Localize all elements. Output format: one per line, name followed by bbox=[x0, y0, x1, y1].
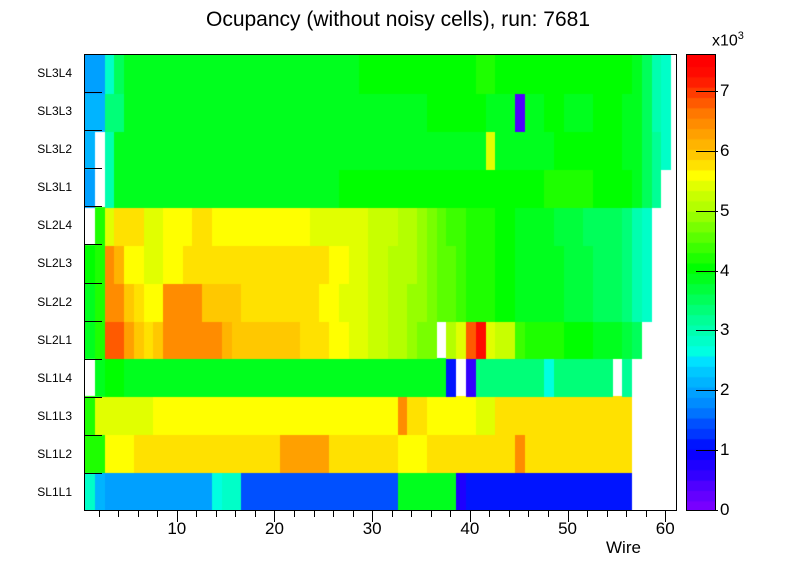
x-axis-tick-minor bbox=[157, 511, 158, 517]
x-axis-tick-minor bbox=[294, 511, 295, 517]
y-axis-label-sl2l2: SL2L2 bbox=[0, 295, 72, 309]
y-axis-tick bbox=[84, 435, 102, 436]
y-axis-labels: SL1L1SL1L2SL1L3SL1L4SL2L1SL2L2SL2L3SL2L4… bbox=[0, 54, 80, 511]
y-axis-label-sl2l1: SL2L1 bbox=[0, 333, 72, 347]
x-axis-tick-minor bbox=[607, 511, 608, 517]
x-axis-tick-minor bbox=[489, 511, 490, 517]
y-axis-tick bbox=[84, 473, 102, 474]
y-axis-tick bbox=[84, 92, 102, 93]
y-axis-tick bbox=[84, 54, 102, 55]
x-axis-tick-minor bbox=[431, 511, 432, 517]
x-axis-tick-minor bbox=[646, 511, 647, 517]
x-axis-tick-minor bbox=[333, 511, 334, 517]
colorbar-tick-label: 1 bbox=[720, 440, 729, 460]
y-axis-label-sl3l1: SL3L1 bbox=[0, 180, 72, 194]
page-title: Ocupancy (without noisy cells), run: 768… bbox=[0, 8, 796, 32]
x-axis-tick-label: 10 bbox=[167, 519, 186, 539]
colorbar-tick-label: 7 bbox=[720, 81, 729, 101]
x-axis-tick-minor bbox=[450, 511, 451, 517]
x-axis-tick-minor bbox=[392, 511, 393, 517]
colorbar-tick-labels: 01234567 bbox=[712, 54, 782, 513]
x-axis-tick-label: 40 bbox=[460, 519, 479, 539]
x-axis-tick-labels: 102030405060 bbox=[0, 519, 796, 541]
y-axis-label-sl2l4: SL2L4 bbox=[0, 218, 72, 232]
x-axis-tick-label: 30 bbox=[363, 519, 382, 539]
y-axis-tick bbox=[84, 168, 102, 169]
x-axis-tick-minor bbox=[411, 511, 412, 517]
x-axis-tick-minor bbox=[235, 511, 236, 517]
y-axis-label-sl2l3: SL2L3 bbox=[0, 256, 72, 270]
x-axis-tick-minor bbox=[587, 511, 588, 517]
y-axis-label-sl1l2: SL1L2 bbox=[0, 447, 72, 461]
y-axis-tick bbox=[84, 283, 102, 284]
y-axis-label-sl1l1: SL1L1 bbox=[0, 485, 72, 499]
colorbar-exponent-power: 3 bbox=[738, 30, 744, 42]
colorbar-tick-label: 5 bbox=[720, 201, 729, 221]
y-axis-label-sl1l4: SL1L4 bbox=[0, 371, 72, 385]
x-axis-tick-minor bbox=[216, 511, 217, 517]
x-axis-tick-minor bbox=[196, 511, 197, 517]
x-axis-tick-minor bbox=[99, 511, 100, 517]
x-axis-tick-label: 50 bbox=[558, 519, 577, 539]
y-axis-label-sl1l3: SL1L3 bbox=[0, 409, 72, 423]
x-axis-tick-minor bbox=[528, 511, 529, 517]
x-axis-tick-minor bbox=[138, 511, 139, 517]
x-axis-tick-label: 60 bbox=[656, 519, 675, 539]
y-axis-tick bbox=[84, 206, 102, 207]
x-axis-tick-minor bbox=[118, 511, 119, 517]
x-axis-title: Wire bbox=[606, 538, 641, 558]
x-axis-tick-minor bbox=[626, 511, 627, 517]
y-axis-tick bbox=[84, 359, 102, 360]
y-axis-ticks bbox=[84, 54, 104, 511]
y-axis-tick bbox=[84, 397, 102, 398]
x-axis-tick-minor bbox=[353, 511, 354, 517]
y-axis-label-sl3l3: SL3L3 bbox=[0, 104, 72, 118]
colorbar-tick-label: 3 bbox=[720, 320, 729, 340]
x-axis-tick-minor bbox=[548, 511, 549, 517]
x-axis-tick-minor bbox=[509, 511, 510, 517]
y-axis-tick bbox=[84, 130, 102, 131]
heatmap-plot-area[interactable] bbox=[84, 54, 677, 511]
y-axis-tick bbox=[84, 244, 102, 245]
colorbar-tick-label: 4 bbox=[720, 261, 729, 281]
root-canvas: Ocupancy (without noisy cells), run: 768… bbox=[0, 0, 796, 572]
colorbar-exponent-base: x10 bbox=[712, 32, 738, 49]
y-axis-label-sl3l4: SL3L4 bbox=[0, 66, 72, 80]
x-axis-tick-label: 20 bbox=[265, 519, 284, 539]
colorbar-tick-label: 2 bbox=[720, 380, 729, 400]
x-axis-tick-minor bbox=[255, 511, 256, 517]
heatmap-canvas[interactable] bbox=[85, 55, 676, 510]
colorbar-tick-label: 6 bbox=[720, 141, 729, 161]
colorbar-exponent-label: x103 bbox=[712, 30, 744, 50]
colorbar-tick-label: 0 bbox=[720, 500, 729, 520]
y-axis-tick bbox=[84, 321, 102, 322]
x-axis-tick-minor bbox=[314, 511, 315, 517]
y-axis-label-sl3l2: SL3L2 bbox=[0, 142, 72, 156]
